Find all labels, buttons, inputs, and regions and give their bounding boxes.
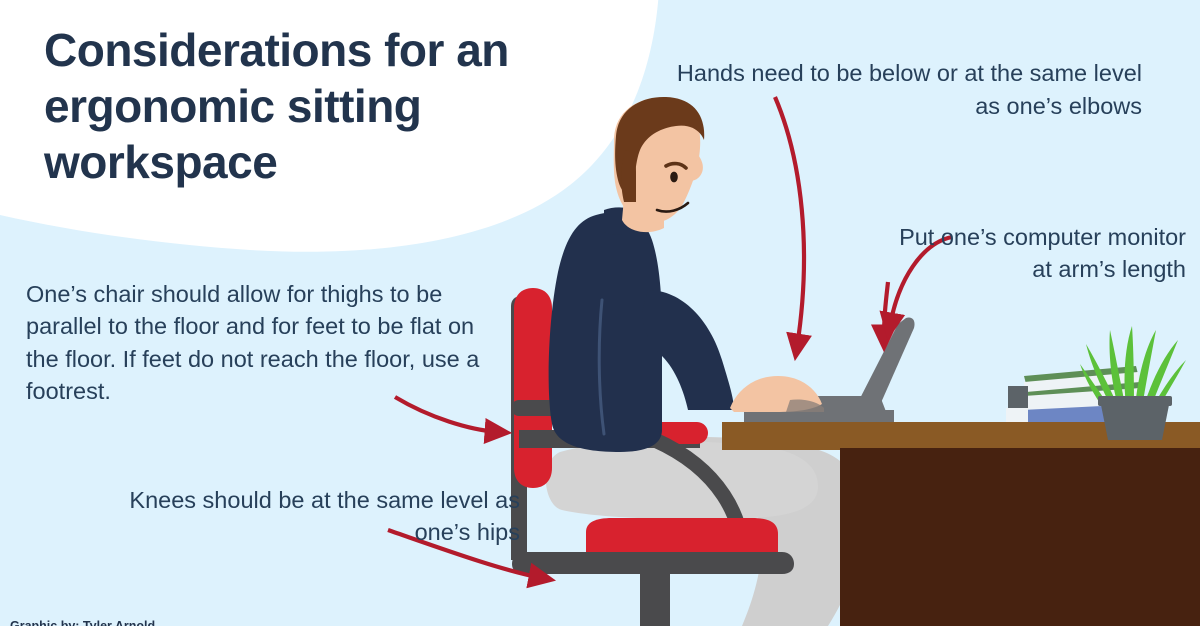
- chair-column: [640, 570, 670, 626]
- callout-knees-text: Knees should be at the same level as one…: [100, 484, 520, 549]
- callout-monitor-text: Put one’s computer monitor at arm’s leng…: [880, 221, 1186, 286]
- credit-block: Graphic by: Tyler Arnold Source: www.may…: [10, 578, 596, 626]
- infographic-canvas: Considerations for an ergonomic sitting …: [0, 0, 1200, 626]
- plant-pot-rim: [1098, 396, 1172, 406]
- eye: [670, 172, 678, 183]
- shirt-torso: [549, 212, 662, 452]
- callout-chair-text: One’s chair should allow for thighs to b…: [26, 278, 496, 408]
- chair-backrest: [514, 288, 552, 488]
- page-title: Considerations for an ergonomic sitting …: [44, 22, 614, 190]
- book-spine-white: [1006, 408, 1028, 422]
- desk-side-panel: [840, 448, 1200, 626]
- book-spine-gray-top: [1008, 386, 1028, 410]
- chair-seat: [586, 518, 778, 556]
- credit-graphic-by: Graphic by: Tyler Arnold: [10, 617, 596, 626]
- callout-hands-text: Hands need to be below or at the same le…: [670, 57, 1142, 124]
